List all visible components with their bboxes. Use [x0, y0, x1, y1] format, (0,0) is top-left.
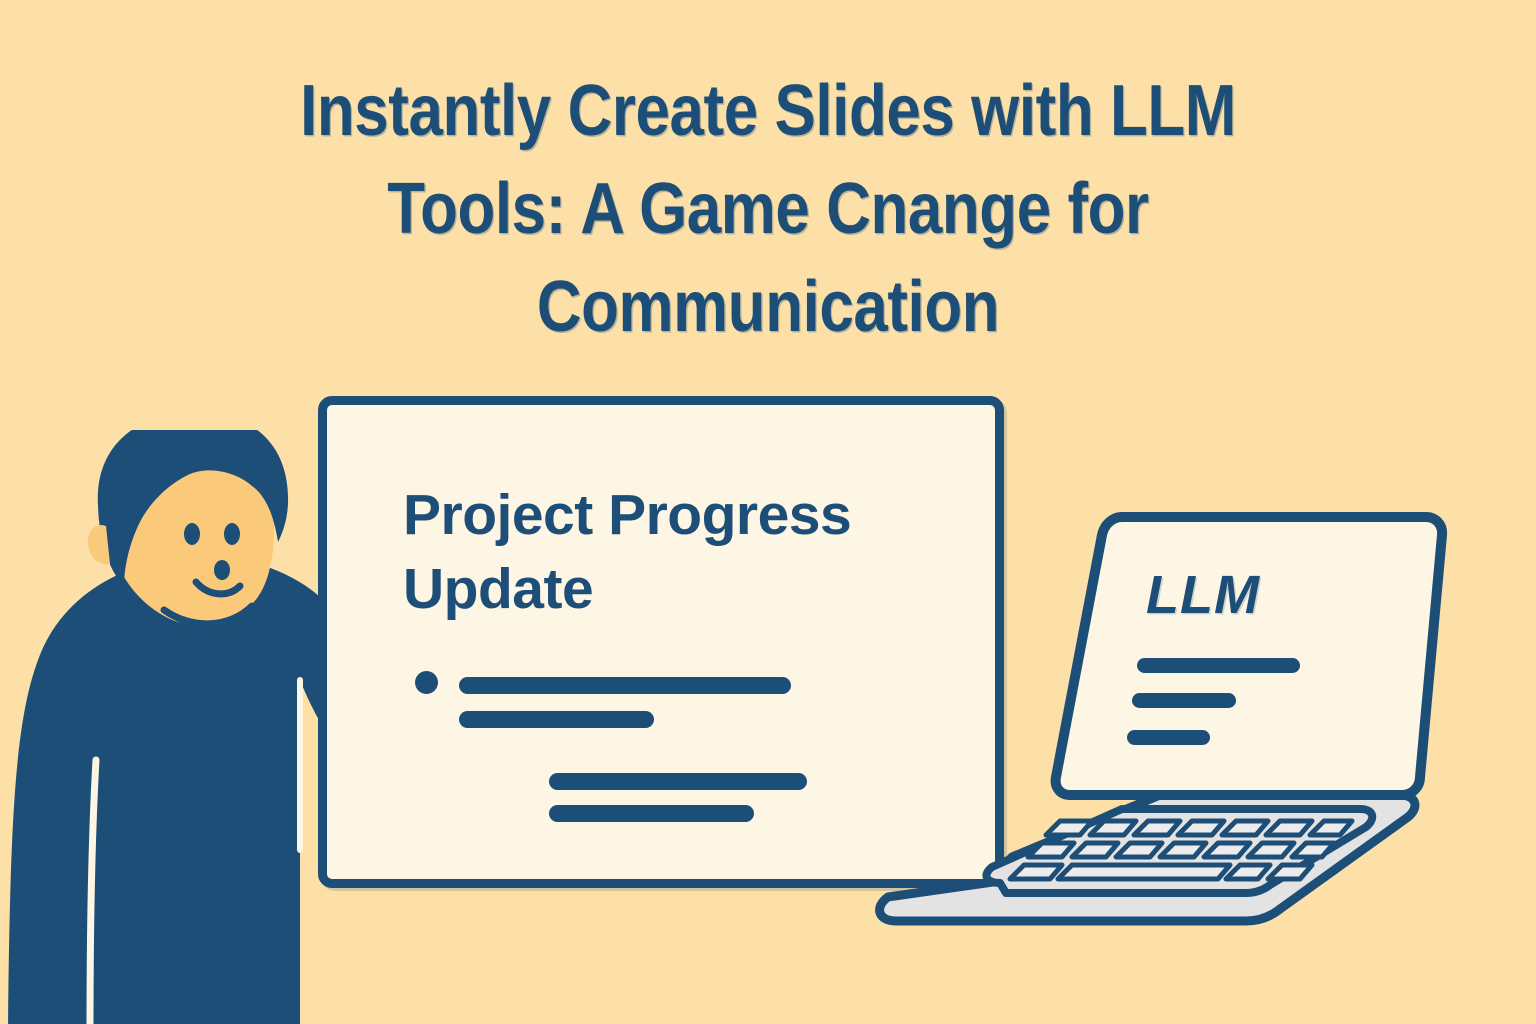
poster-canvas: Instantly Create Slides with LLM Tools: …: [0, 0, 1536, 1024]
page-title: Instantly Create Slides with LLM Tools: …: [108, 62, 1429, 356]
laptop[interactable]: [860, 495, 1500, 945]
laptop-screen-label: LLM: [1146, 566, 1260, 624]
person-nose: [214, 560, 230, 580]
laptop-screen-text-line: [1127, 730, 1210, 745]
whiteboard-text-line: [549, 773, 807, 790]
person-left-eye: [184, 523, 200, 545]
whiteboard-text-line: [459, 677, 791, 694]
whiteboard-bullet-dot: [415, 671, 438, 694]
laptop-screen-text-line: [1137, 658, 1300, 673]
laptop-screen: [1056, 517, 1442, 795]
whiteboard-text-line: [459, 711, 654, 728]
whiteboard-text-line: [549, 805, 754, 822]
laptop-screen-text-line: [1132, 693, 1236, 708]
person-right-eye: [224, 523, 240, 545]
